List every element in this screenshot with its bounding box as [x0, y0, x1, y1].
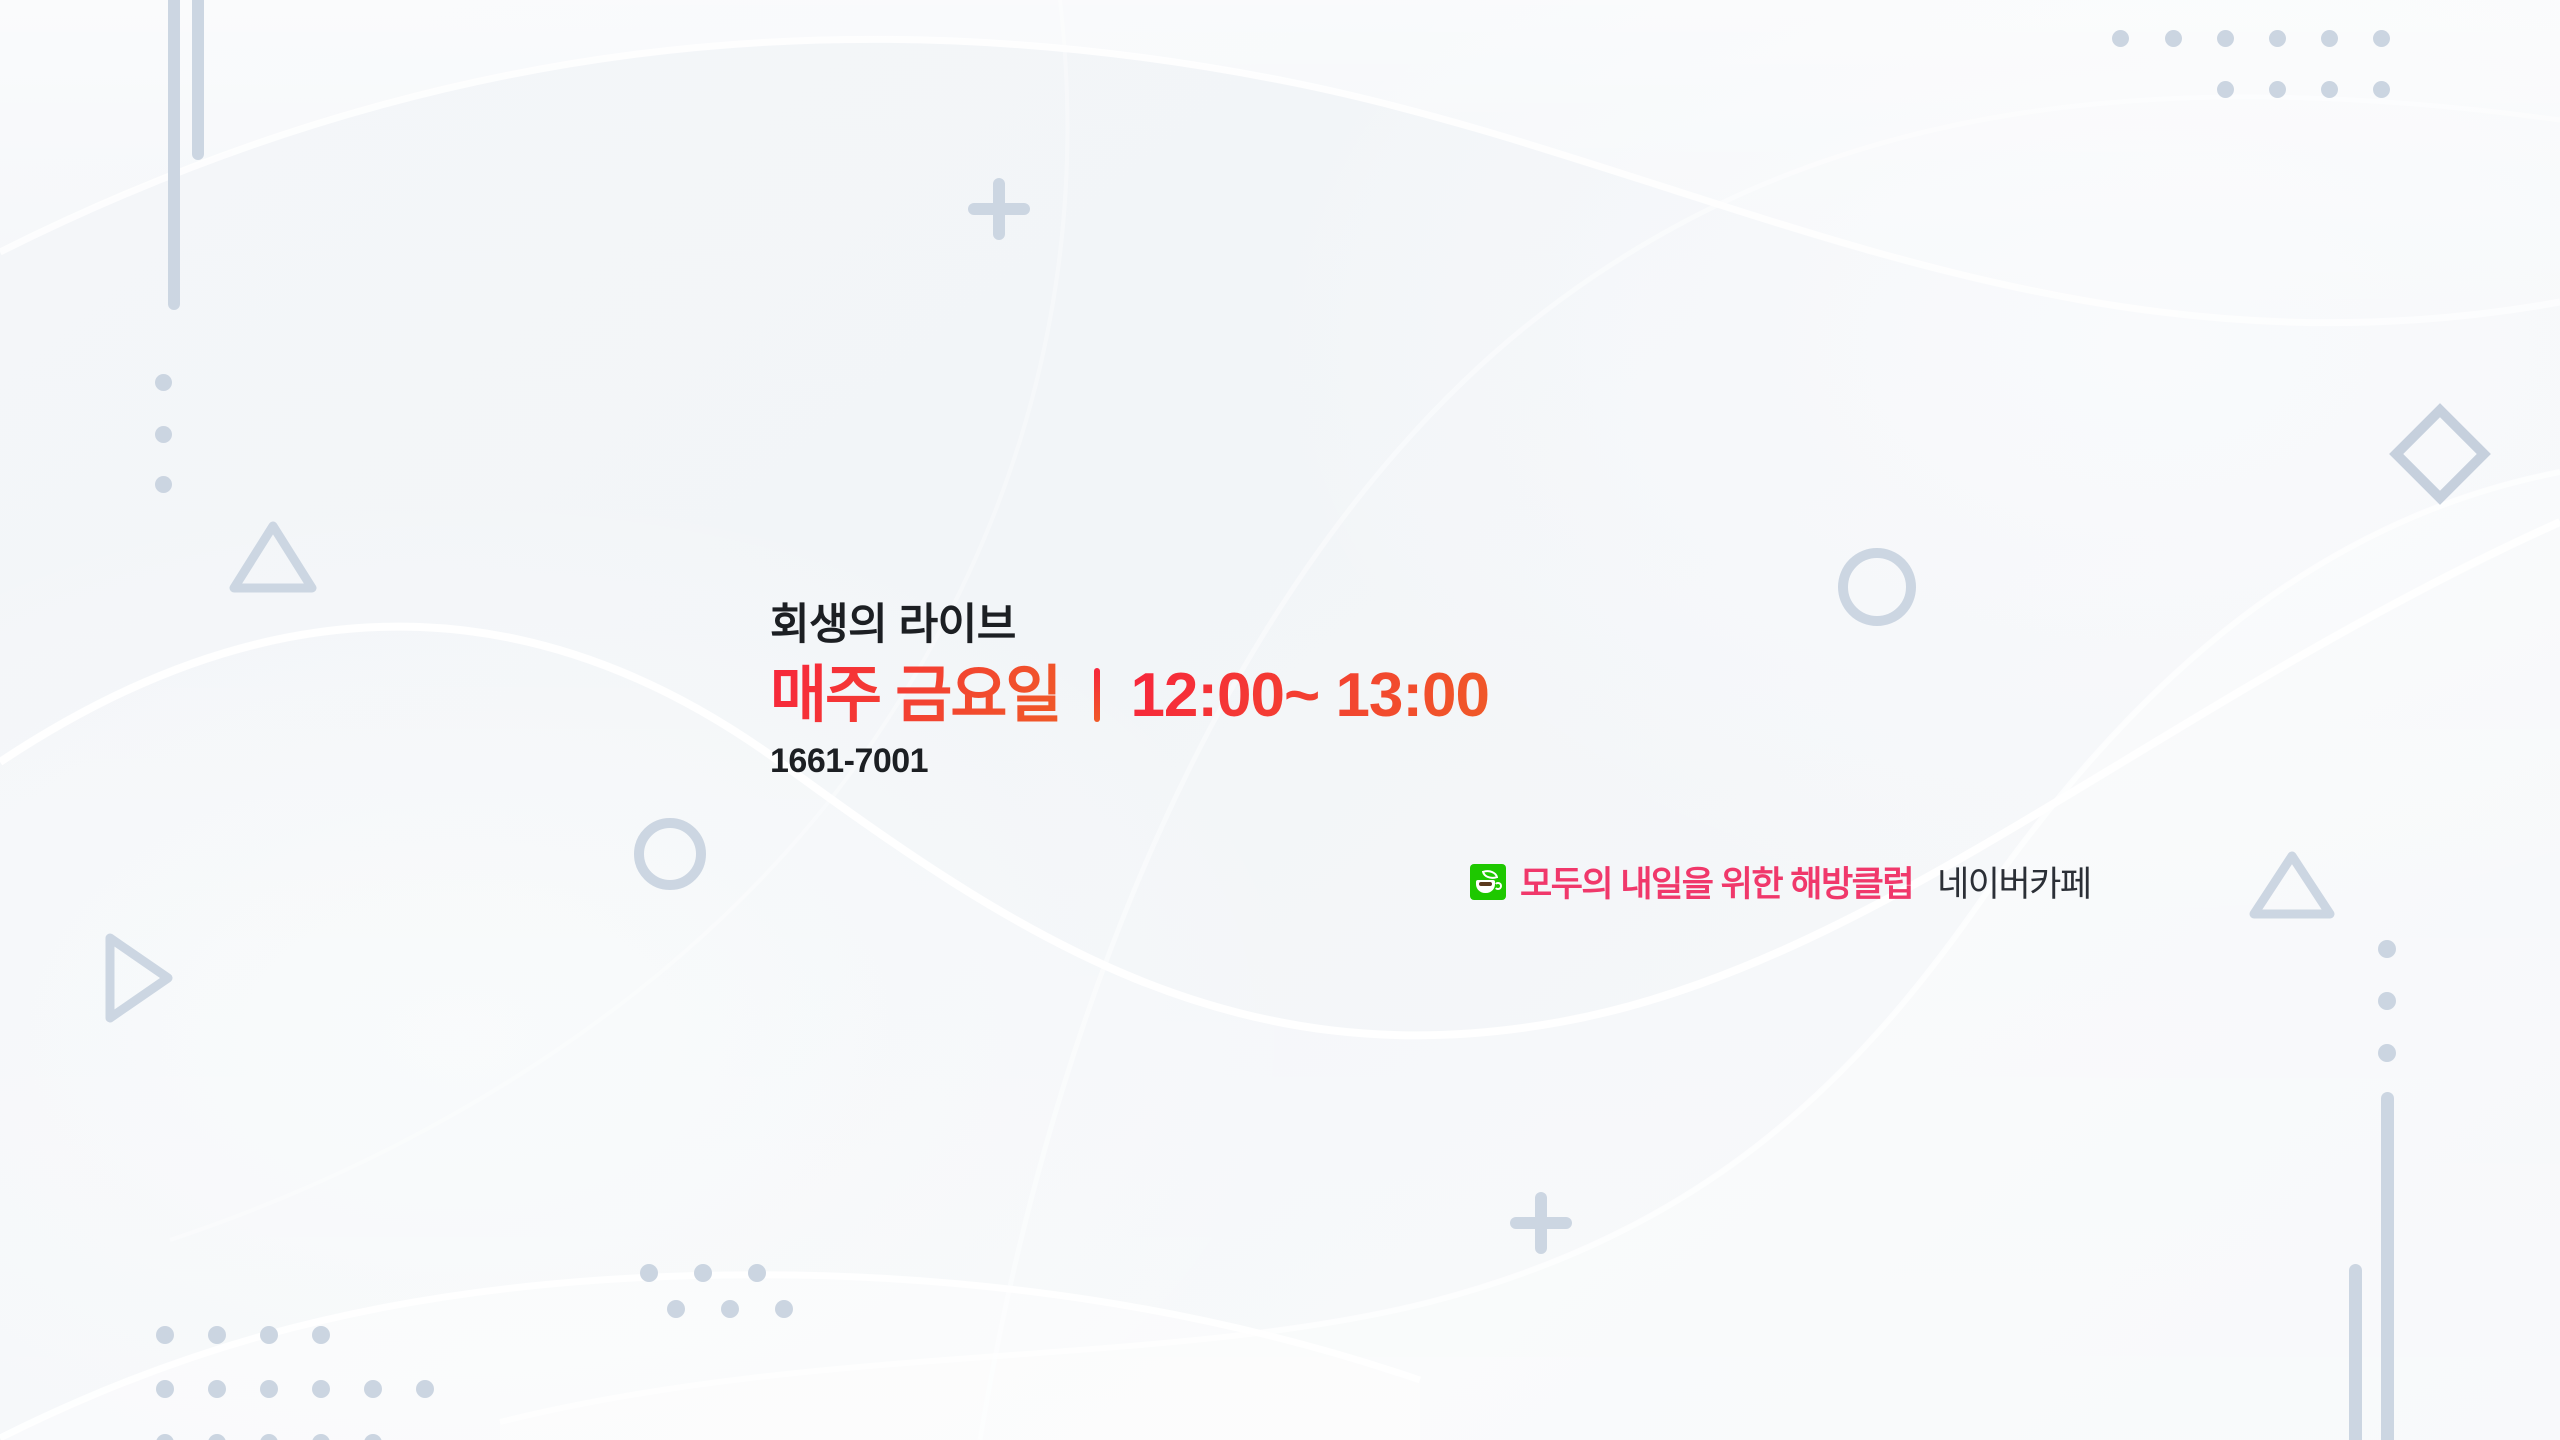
cafe-name[interactable]: 모두의 내일을 위한 해방클럽: [1520, 856, 1913, 907]
circle-outline-decoration: [1838, 548, 1916, 626]
triangle-icon: [2248, 848, 2336, 922]
plus-icon: [968, 178, 1030, 240]
phone-number: 1661-7001: [770, 742, 1489, 781]
schedule-separator-bar: [1094, 668, 1100, 722]
banner-title: 회생의 라이브: [770, 600, 1489, 651]
dot-grid-decoration: [2112, 30, 2452, 110]
dot-decoration: [2378, 1044, 2396, 1062]
vertical-bar-decoration: [2349, 1264, 2362, 1440]
vertical-bar-decoration: [192, 0, 204, 160]
schedule-time: 12:00~ 13:00: [1130, 663, 1489, 728]
schedule-line: 매주 금요일 12:00~ 13:00: [770, 663, 1489, 728]
vertical-bar-decoration: [168, 0, 180, 310]
cafe-attribution-row[interactable]: 모두의 내일을 위한 해방클럽 네이버카페: [1470, 856, 2091, 907]
circle-outline-decoration: [634, 818, 706, 890]
plus-icon: [1510, 1192, 1572, 1254]
triangle-icon: [228, 518, 318, 596]
dot-decoration: [155, 476, 172, 493]
vertical-bar-decoration: [2381, 1092, 2394, 1440]
naver-cafe-icon: [1470, 864, 1506, 900]
promo-banner: 회생의 라이브 매주 금요일 12:00~ 13:00 1661-7001 모두…: [0, 0, 2560, 1440]
dot-decoration: [155, 374, 172, 391]
cafe-platform-label: 네이버카페: [1937, 856, 2091, 907]
dot-decoration: [2378, 992, 2396, 1010]
banner-content: 회생의 라이브 매주 금요일 12:00~ 13:00 1661-7001: [770, 600, 1489, 781]
dot-grid-decoration: [156, 1326, 456, 1440]
schedule-day: 매주 금요일: [770, 663, 1060, 728]
play-triangle-icon: [98, 928, 178, 1028]
dot-decoration: [2378, 940, 2396, 958]
dot-decoration: [155, 426, 172, 443]
dot-cluster-decoration: [640, 1264, 840, 1344]
